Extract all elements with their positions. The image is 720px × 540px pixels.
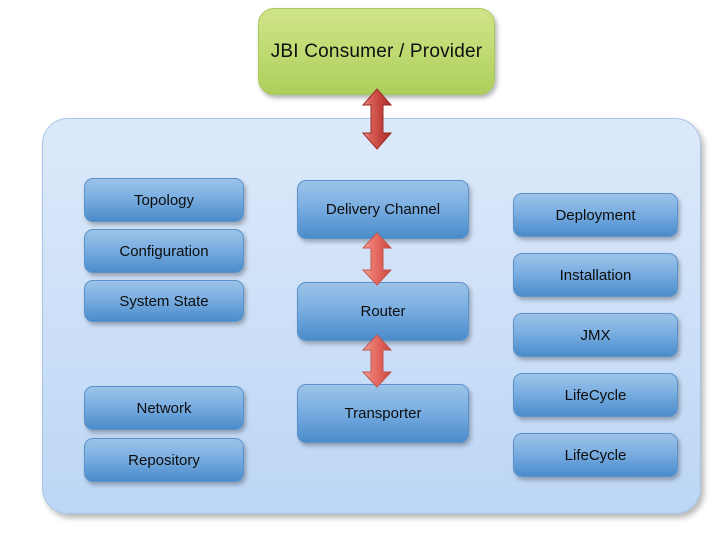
node-configuration[interactable]: Configuration (84, 229, 244, 273)
node-system-state-label: System State (119, 293, 208, 310)
node-topology[interactable]: Topology (84, 178, 244, 222)
node-configuration-label: Configuration (119, 243, 208, 260)
node-system-state[interactable]: System State (84, 280, 244, 322)
node-network[interactable]: Network (84, 386, 244, 430)
node-repository-label: Repository (128, 452, 200, 469)
node-deployment-label: Deployment (555, 207, 635, 224)
node-deployment[interactable]: Deployment (513, 193, 678, 237)
node-transporter[interactable]: Transporter (297, 384, 469, 443)
node-jmx[interactable]: JMX (513, 313, 678, 357)
node-delivery-channel-label: Delivery Channel (326, 201, 440, 218)
node-jmx-label: JMX (581, 327, 611, 344)
node-lifecycle-1-label: LifeCycle (565, 387, 627, 404)
node-topology-label: Topology (134, 192, 194, 209)
double-arrow-vertical-icon-jbi-to-delivery-channel (362, 88, 392, 150)
node-router-label: Router (360, 303, 405, 320)
node-router[interactable]: Router (297, 282, 469, 341)
node-lifecycle-1[interactable]: LifeCycle (513, 373, 678, 417)
node-delivery-channel[interactable]: Delivery Channel (297, 180, 469, 239)
diagram-canvas: JBI Consumer / Provider Configuration Di… (0, 0, 720, 540)
node-installation-label: Installation (560, 267, 632, 284)
double-arrow-vertical-icon-delivery-channel-to-router (362, 232, 392, 286)
node-network-label: Network (136, 400, 191, 417)
jbi-consumer-provider-box[interactable]: JBI Consumer / Provider (258, 8, 495, 95)
double-arrow-vertical-icon-router-to-transporter (362, 334, 392, 388)
node-repository[interactable]: Repository (84, 438, 244, 482)
jbi-consumer-provider-label: JBI Consumer / Provider (271, 41, 483, 63)
node-lifecycle-2[interactable]: LifeCycle (513, 433, 678, 477)
node-installation[interactable]: Installation (513, 253, 678, 297)
node-lifecycle-2-label: LifeCycle (565, 447, 627, 464)
node-transporter-label: Transporter (345, 405, 422, 422)
